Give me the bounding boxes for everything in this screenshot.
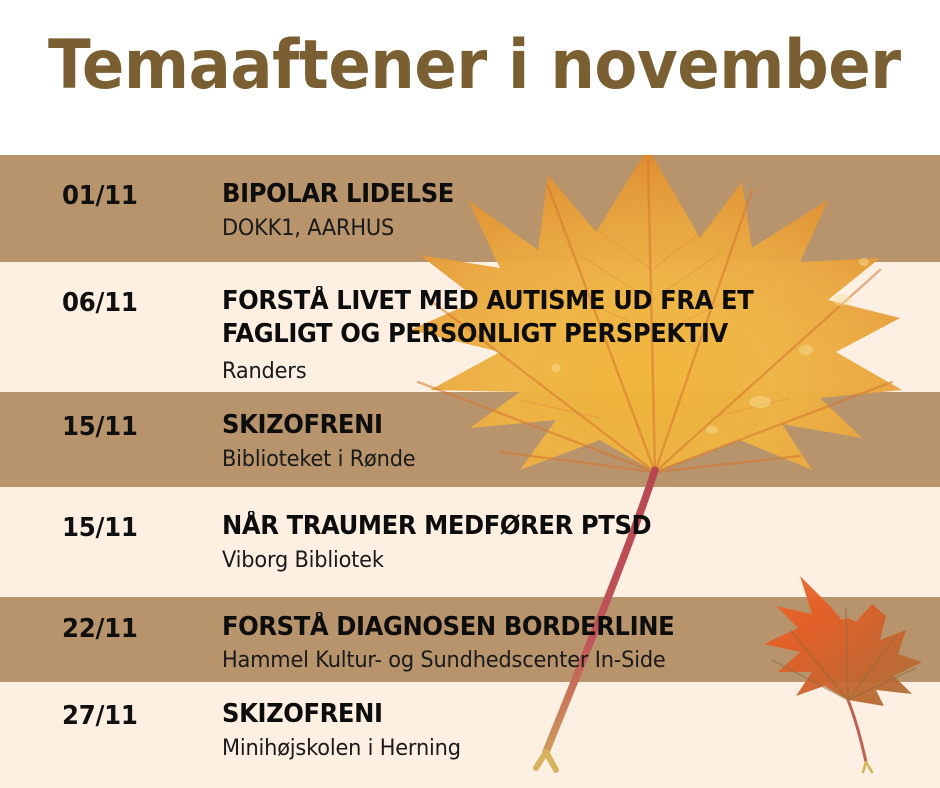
event-venue: Biblioteket i Rønde bbox=[222, 447, 895, 473]
list-item[interactable]: 22/11 FORSTÅ DIAGNOSEN BORDERLINE Hammel… bbox=[0, 597, 940, 682]
event-title: FORSTÅ DIAGNOSEN BORDERLINE bbox=[222, 611, 895, 644]
list-item[interactable]: 27/11 SKIZOFRENI Minihøjskolen i Herning bbox=[0, 682, 940, 788]
event-venue: Randers bbox=[222, 359, 895, 385]
event-date: 01/11 bbox=[62, 181, 138, 211]
poster-canvas: Temaaftener i november 01/11 BIPOLAR LID… bbox=[0, 0, 940, 788]
event-date: 15/11 bbox=[62, 412, 138, 442]
event-date: 06/11 bbox=[62, 288, 138, 318]
event-venue: DOKK1, AARHUS bbox=[222, 216, 895, 242]
list-item[interactable]: 01/11 BIPOLAR LIDELSE DOKK1, AARHUS bbox=[0, 155, 940, 262]
event-date: 22/11 bbox=[62, 614, 138, 644]
event-title: FORSTÅ LIVET MED AUTISME UD FRA ET FAGLI… bbox=[222, 285, 800, 350]
event-title: BIPOLAR LIDELSE bbox=[222, 178, 895, 211]
event-venue: Hammel Kultur- og Sundhedscenter In-Side bbox=[222, 648, 895, 674]
header-band: Temaaftener i november bbox=[0, 0, 940, 155]
list-item[interactable]: 15/11 NÅR TRAUMER MEDFØRER PTSD Viborg B… bbox=[0, 487, 940, 597]
list-item[interactable]: 15/11 SKIZOFRENI Biblioteket i Rønde bbox=[0, 392, 940, 487]
page-title: Temaaftener i november bbox=[48, 27, 901, 105]
event-title: NÅR TRAUMER MEDFØRER PTSD bbox=[222, 510, 895, 543]
event-venue: Minihøjskolen i Herning bbox=[222, 736, 895, 762]
list-item[interactable]: 06/11 FORSTÅ LIVET MED AUTISME UD FRA ET… bbox=[0, 262, 940, 392]
event-date: 15/11 bbox=[62, 513, 138, 543]
event-date: 27/11 bbox=[62, 701, 138, 731]
event-title: SKIZOFRENI bbox=[222, 698, 895, 731]
event-venue: Viborg Bibliotek bbox=[222, 548, 895, 574]
event-title: SKIZOFRENI bbox=[222, 409, 895, 442]
